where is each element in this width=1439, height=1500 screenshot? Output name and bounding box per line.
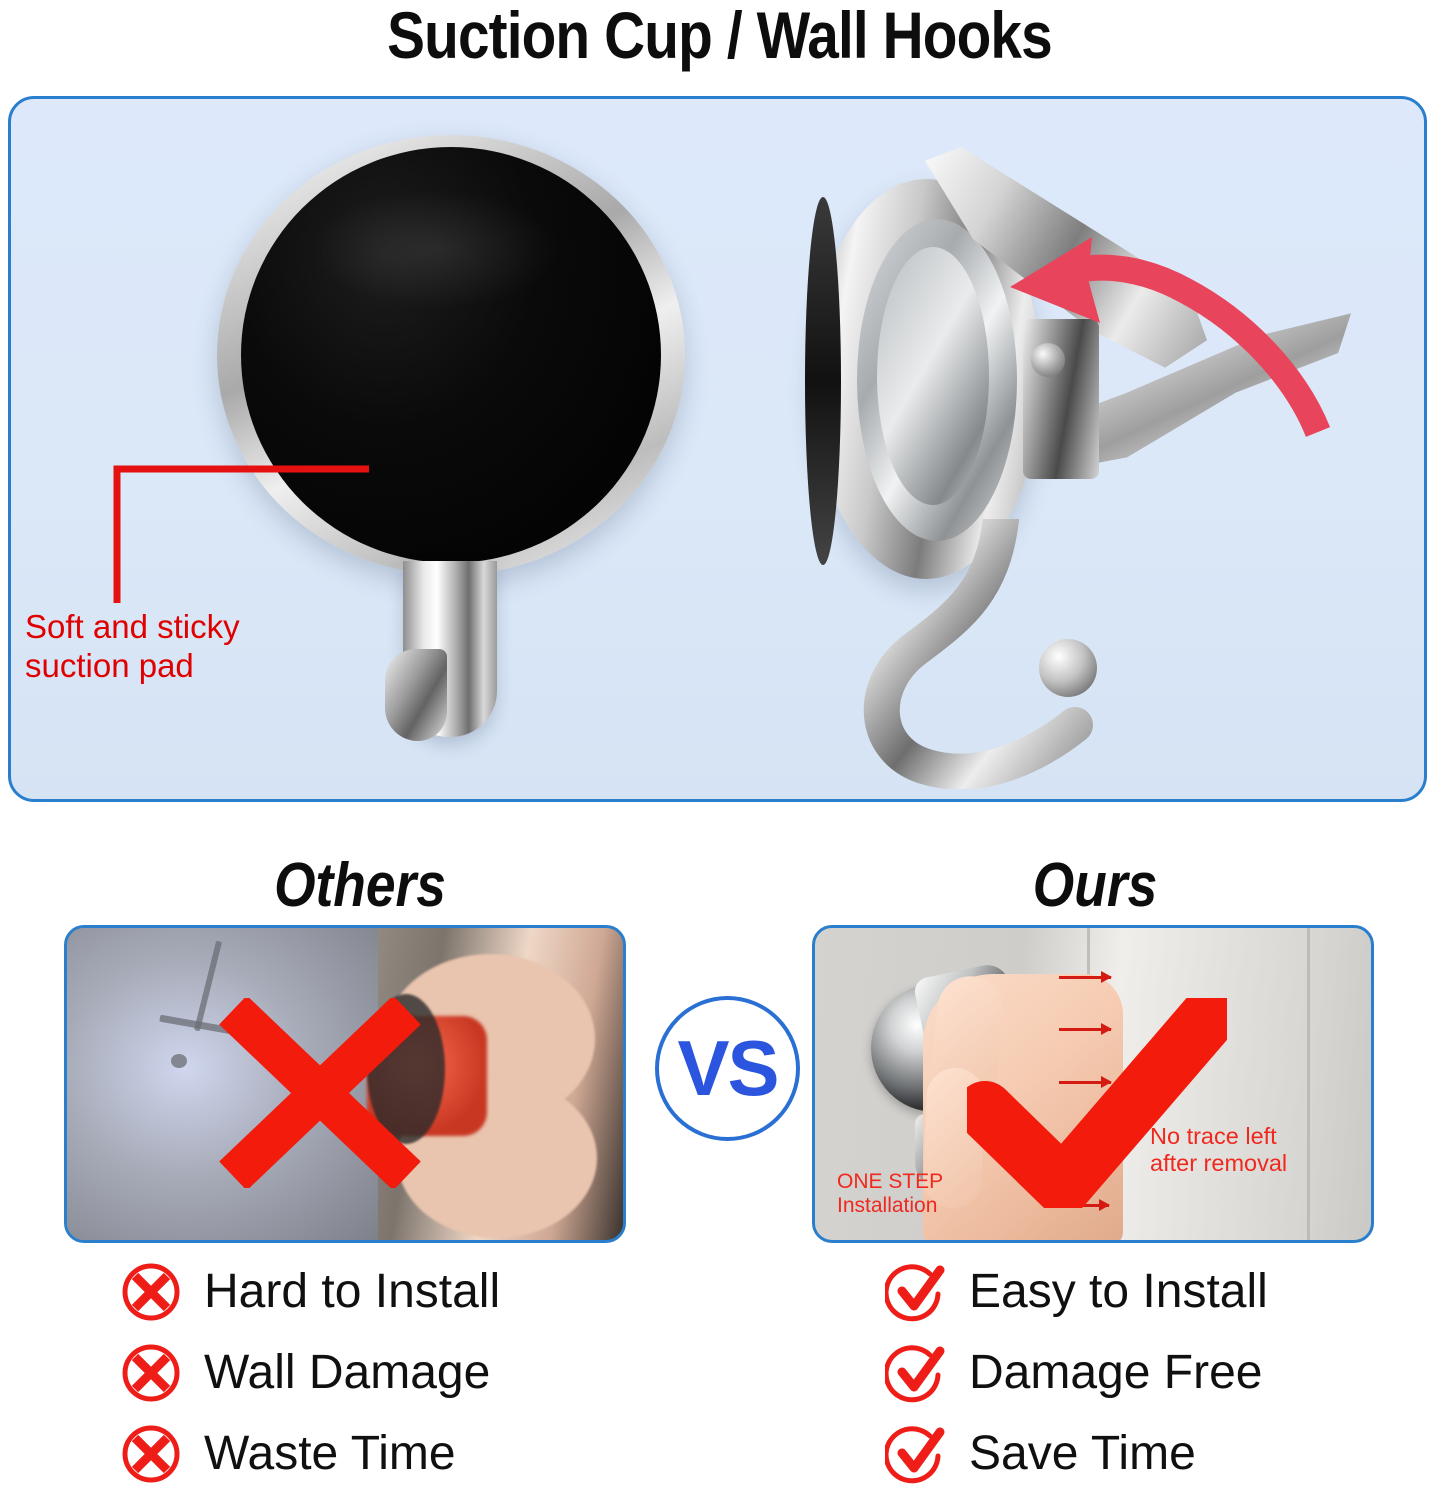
others-bullet-list: Hard to Install Wall Damage Waste Time [120,1251,720,1494]
suction-cup-inner-core [877,247,989,505]
hero-product-panel: Soft and sticky suction pad [8,96,1427,802]
circle-check-icon [885,1342,947,1404]
drill-dust [171,1054,187,1068]
callout-leader-line [111,457,373,609]
list-item-label: Damage Free [969,1345,1262,1400]
list-item-label: Waste Time [204,1426,456,1481]
list-item-label: Wall Damage [204,1345,490,1400]
front-hook-tip [385,649,447,741]
soft-sticky-pad-callout: Soft and sticky suction pad [25,607,305,685]
circle-x-icon [120,1261,182,1323]
circle-x-icon [120,1342,182,1404]
heading-ours: Ours [932,850,1259,921]
circle-check-icon [885,1423,947,1485]
others-photo-card [64,925,626,1243]
no-trace-label: No trace left after removal [1150,1123,1287,1177]
list-item: Easy to Install [885,1251,1439,1332]
curved-arrow-icon [996,227,1336,442]
red-x-overlay-icon [215,998,425,1188]
no-trace-line-2: after removal [1150,1150,1287,1177]
list-item-label: Easy to Install [969,1264,1268,1319]
wall-arrow-1 [1059,976,1111,979]
suction-pad-gloss [311,189,561,309]
ours-photo-card: No trace left after removal ONE STEP Ins… [812,925,1374,1243]
hook-ball-tip [1039,639,1097,697]
circle-check-icon [885,1261,947,1323]
list-item-label: Save Time [969,1426,1196,1481]
one-step-label: ONE STEP Installation [837,1170,943,1218]
list-item: Waste Time [120,1413,720,1494]
side-view-suction-hook [781,119,1341,789]
ours-bullet-list: Easy to Install Damage Free Save Time [885,1251,1439,1494]
circle-x-icon [120,1423,182,1485]
list-item: Wall Damage [120,1332,720,1413]
callout-line-2: suction pad [25,646,305,685]
vs-badge: VS [655,996,800,1141]
heading-others: Others [197,850,524,921]
wall-seam-right [1307,928,1310,1240]
list-item-label: Hard to Install [204,1264,500,1319]
suction-cup-lip [805,197,841,565]
no-trace-line-1: No trace left [1150,1123,1287,1150]
page-title: Suction Cup / Wall Hooks [101,0,1339,74]
list-item: Hard to Install [120,1251,720,1332]
list-item: Save Time [885,1413,1439,1494]
callout-line-1: Soft and sticky [25,607,305,646]
hook-curve-icon [841,519,1141,789]
one-step-line-1: ONE STEP [837,1170,943,1194]
list-item: Damage Free [885,1332,1439,1413]
one-step-line-2: Installation [837,1194,943,1218]
